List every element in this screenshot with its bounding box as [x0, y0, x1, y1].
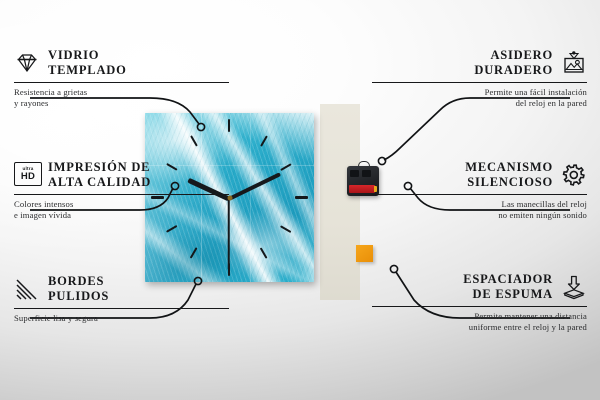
feature-title: MECANISMO SILENCIOSO — [465, 160, 553, 191]
feature-vidrio-templado: VIDRIO TEMPLADO Resistencia a grietas y … — [14, 48, 229, 110]
feature-impresion-alta-calidad: ultra HD IMPRESIÓN DE ALTA CALIDAD Color… — [14, 160, 229, 222]
feature-divider — [372, 306, 587, 307]
feature-title: ASIDERO DURADERO — [474, 48, 553, 79]
foam-spacer-icon — [561, 274, 587, 300]
foam-spacer-pad — [356, 245, 373, 262]
feature-description: Colores intensos e imagen vívida — [14, 199, 229, 222]
feature-divider — [372, 82, 587, 83]
feature-bordes-pulidos: BORDES PULIDOS Superficie lisa y segura — [14, 274, 229, 324]
feature-title: BORDES PULIDOS — [48, 274, 109, 305]
feature-description: Superficie lisa y segura — [14, 313, 229, 325]
wall-panel — [320, 104, 360, 300]
feature-divider — [14, 194, 229, 195]
feature-mecanismo-silencioso: MECANISMO SILENCIOSO Las manecillas del … — [372, 160, 587, 222]
feature-divider — [14, 82, 229, 83]
ultra-hd-icon: ultra HD — [14, 162, 40, 188]
diamond-icon — [14, 50, 40, 76]
feature-description: Las manecillas del reloj no emiten ningú… — [372, 199, 587, 222]
feature-divider — [372, 194, 587, 195]
feature-title: IMPRESIÓN DE ALTA CALIDAD — [48, 160, 151, 191]
feature-asidero-duradero: ASIDERO DURADERO Permite una fácil insta… — [372, 48, 587, 110]
feature-espaciador-de-espuma: ESPACIADOR DE ESPUMA Permite mantener un… — [372, 272, 587, 334]
feature-title: VIDRIO TEMPLADO — [48, 48, 127, 79]
polished-edges-icon — [14, 276, 40, 302]
feature-description: Resistencia a grietas y rayones — [14, 87, 229, 110]
feature-description: Permite mantener una distancia uniforme … — [372, 311, 587, 334]
feature-title: ESPACIADOR DE ESPUMA — [463, 272, 553, 303]
infographic-canvas: VIDRIO TEMPLADO Resistencia a grietas y … — [0, 0, 600, 400]
clock-tick — [295, 196, 308, 199]
gear-icon — [561, 162, 587, 188]
feature-description: Permite una fácil instalación del reloj … — [372, 87, 587, 110]
mechanism-detail — [362, 170, 371, 177]
wall-hanger-icon — [561, 50, 587, 76]
clock-center-hub — [227, 195, 232, 200]
clock-tick — [228, 119, 230, 132]
mechanism-detail — [350, 170, 359, 177]
feature-divider — [14, 308, 229, 309]
